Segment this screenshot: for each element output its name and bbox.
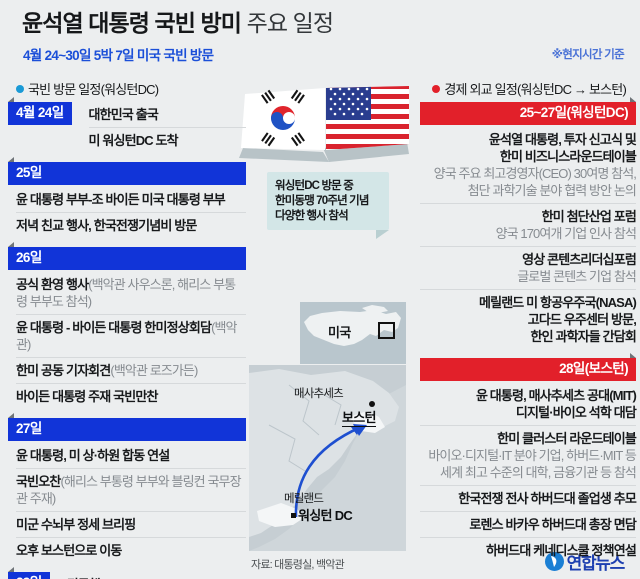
economic-item-subtext: 양국 주요 최고경영자(CEO) 30여명 참석, 첨단 과학기술 분야 협력 … [420,165,636,199]
schedule-item-text: 공식 환영 행사 [16,277,88,292]
schedule-inline-row: 29일귀국행 [8,572,246,579]
economic-item: 윤 대통령, 매사추세츠 공대(MIT) 디지털·바이오 석학 대담 [420,383,636,426]
economic-diplomacy-column: 25~27일(워싱턴DC)윤석열 대통령, 투자 신고식 및 한미 비즈니스라운… [420,102,636,572]
economic-item-text: 로렌스 바카우 하버드대 총장 면담 [420,516,636,533]
economic-item-text: 한미 클러스터 라운드테이블 [420,430,636,447]
map-label-maryland: 메릴랜드 [284,490,323,506]
schedule-item: 저녁 친교 행사, 한국전쟁기념비 방문 [16,213,246,238]
economic-item-text: 하버드대 케네디스쿨 정책연설 [420,542,636,559]
badge-fold-icon [8,157,14,162]
minimap-focus-box-icon [378,322,395,339]
page-title-strong: 윤석열 대통령 국빈 방미 [22,10,241,36]
economic-item-text: 윤석열 대통령, 투자 신고식 및 한미 비즈니스라운드테이블 [420,131,636,165]
schedule-body: 귀국행 [50,572,246,579]
economic-item-subtext: 양국 170여개 기업 인사 참석 [420,225,636,242]
date-badge[interactable]: 25~27일(워싱턴DC) [420,102,636,125]
legend-dot-blue-icon [16,85,24,93]
date-badge[interactable]: 25일 [8,162,246,185]
economic-item: 윤석열 대통령, 투자 신고식 및 한미 비즈니스라운드테이블양국 주요 최고경… [420,127,636,204]
schedule-item: 미 워싱턴DC 도착 [89,128,246,153]
schedule-item-text: 윤 대통령 부부-조 바이든 미국 대통령 부부 [16,192,225,207]
date-badge[interactable]: 28일(보스턴) [420,358,636,381]
badge-fold-icon [8,97,14,102]
badge-fold-icon [8,242,14,247]
callout-text: 워싱턴DC 방문 중 한미동맹 70주년 기념 다양한 행사 참석 [267,172,389,224]
schedule-item-text: 저녁 친교 행사, 한국전쟁기념비 방문 [16,218,196,233]
schedule-item-text: 미군 수뇌부 정세 브리핑 [16,517,135,532]
schedule-item-text: 윤 대통령, 미 상·하원 합동 연설 [16,448,169,463]
economic-item-subtext: 글로벌 콘텐츠 기업 참석 [420,268,636,285]
schedule-item: 국빈오찬(해리스 부통령 부부와 블링컨 국무장관 주재) [16,469,246,512]
schedule-item-text: 대한민국 출국 [89,107,158,122]
date-badge-wrap: 25~27일(워싱턴DC) [420,102,636,125]
northeast-usa-map: 매사추세츠 보스턴 메릴랜드 워싱턴 DC [249,365,406,551]
schedule-item-list: 귀국행 [59,572,246,579]
schedule-block: 29일귀국행 [8,572,246,579]
schedule-item-text: 국빈오찬 [16,474,60,489]
page-title: 윤석열 대통령 국빈 방미 주요 일정 [22,8,333,38]
date-badge-wrap: 25일 [8,162,246,185]
map-square-washington-icon [291,513,296,518]
economic-item-text: 한국전쟁 전사 하버드대 졸업생 추모 [420,490,636,507]
schedule-item-text: 미 워싱턴DC 도착 [89,133,178,148]
economic-item: 로렌스 바카우 하버드대 총장 면담 [420,512,636,538]
schedule-item: 귀국행 [67,572,246,579]
schedule-item: 윤 대통령 - 바이든 대통령 한미정상회담(백악관) [16,315,246,358]
date-badge-wrap: 4월 24일 [8,102,72,125]
economic-item-subtext: 바이오·디지털·IT 분야 기업, 하버드·MIT 등 세계 최고 수준의 대학… [420,447,636,481]
schedule-item: 미군 수뇌부 정세 브리핑 [16,512,246,538]
schedule-item-list: 공식 환영 행사(백악관 사우스론, 해리스 부통령 부부도 참석)윤 대통령 … [8,270,246,409]
economic-item-list: 윤 대통령, 매사추세츠 공대(MIT) 디지털·바이오 석학 대담한미 클러스… [420,381,636,563]
economic-block: 25~27일(워싱턴DC)윤석열 대통령, 투자 신고식 및 한미 비즈니스라운… [420,102,636,349]
flags-illustration [237,86,410,166]
schedule-item-list: 윤 대통령, 미 상·하원 합동 연설국빈오찬(해리스 부통령 부부와 블링컨 … [8,441,246,563]
legend-economic-diplomacy: 경제 외교 일정(워싱턴DC → 보스턴) [432,79,626,98]
date-badge[interactable]: 27일 [8,418,246,441]
economic-item-text: 윤 대통령, 매사추세츠 공대(MIT) 디지털·바이오 석학 대담 [420,387,636,421]
callout-tail-icon [376,230,389,239]
timezone-note: ※현지시간 기준 [552,46,624,62]
schedule-item-text: 한미 공동 기자회견 [16,363,110,378]
korea-usa-flags-icon [237,86,410,166]
economic-item-text: 한미 첨단산업 포럼 [420,208,636,225]
legend-state-visit: 국빈 방문 일정(워싱턴DC) [16,79,158,98]
map-city-boston: 보스턴 [342,407,376,427]
usa-overview-map: 미국 [300,302,406,364]
schedule-item: 윤 대통령 부부-조 바이든 미국 대통령 부부 [16,187,246,213]
schedule-block: 27일윤 대통령, 미 상·하원 합동 연설국빈오찬(해리스 부통령 부부와 블… [8,418,246,563]
legend-left-label: 국빈 방문 일정(워싱턴DC) [28,82,158,97]
schedule-item-text: 바이든 대통령 주재 국빈만찬 [16,389,158,404]
date-badge[interactable]: 26일 [8,247,246,270]
state-visit-schedule-column: 4월 24일대한민국 출국미 워싱턴DC 도착25일윤 대통령 부부-조 바이든… [8,102,246,579]
badge-fold-icon [8,413,14,418]
economic-item: 한미 클러스터 라운드테이블바이오·디지털·IT 분야 기업, 하버드·MIT … [420,426,636,486]
schedule-block: 25일윤 대통령 부부-조 바이든 미국 대통령 부부저녁 친교 행사, 한국전… [8,162,246,238]
schedule-block: 26일공식 환영 행사(백악관 사우스론, 해리스 부통령 부부도 참석)윤 대… [8,247,246,409]
legend-dot-red-icon [432,85,440,93]
schedule-item-text: 윤 대통령 - 바이든 대통령 한미정상회담 [16,320,211,335]
schedule-item-list: 대한민국 출국미 워싱턴DC 도착 [81,102,246,153]
map-city-washington-dc: 워싱턴 DC [298,505,352,524]
callout-box: 워싱턴DC 방문 중 한미동맹 70주년 기념 다양한 행사 참석 [267,172,389,230]
economic-item-list: 윤석열 대통령, 투자 신고식 및 한미 비즈니스라운드테이블양국 주요 최고경… [420,125,636,349]
page-title-light: 주요 일정 [241,10,333,36]
schedule-item: 대한민국 출국 [89,102,246,128]
date-badge-wrap: 27일 [8,418,246,441]
date-badge[interactable]: 29일 [8,572,50,579]
badge-fold-icon [630,97,636,102]
schedule-body: 대한민국 출국미 워싱턴DC 도착 [72,102,246,153]
schedule-item-text: 오후 보스턴으로 이동 [16,543,122,558]
economic-item: 한국전쟁 전사 하버드대 졸업생 추모 [420,486,636,512]
date-badge-wrap: 26일 [8,247,246,270]
legend-right-label: 경제 외교 일정(워싱턴DC → 보스턴) [444,82,626,97]
schedule-item: 한미 공동 기자회견(백악관 로즈가든) [16,358,246,384]
economic-block: 28일(보스턴)윤 대통령, 매사추세츠 공대(MIT) 디지털·바이오 석학 … [420,358,636,563]
economic-item: 영상 콘텐츠리더십포럼글로벌 콘텐츠 기업 참석 [420,247,636,290]
page-subtitle: 4월 24~30일 5박 7일 미국 국빈 방문 [23,44,213,64]
schedule-item-list: 윤 대통령 부부-조 바이든 미국 대통령 부부저녁 친교 행사, 한국전쟁기념… [8,185,246,238]
schedule-item-subtext: (백악관 로즈가든) [110,363,197,378]
schedule-item: 공식 환영 행사(백악관 사우스론, 해리스 부통령 부부도 참석) [16,272,246,315]
schedule-inline-row: 4월 24일대한민국 출국미 워싱턴DC 도착 [8,102,246,153]
economic-item: 하버드대 케네디스쿨 정책연설 [420,538,636,563]
map-label-massachusetts: 매사추세츠 [294,385,343,401]
source-note: 자료: 대통령실, 백악관 [251,556,344,572]
schedule-item: 바이든 대통령 주재 국빈만찬 [16,384,246,409]
schedule-item: 오후 보스턴으로 이동 [16,538,246,563]
economic-item: 메릴랜드 미 항공우주국(NASA) 고다드 우주센터 방문, 한인 과학자들 … [420,290,636,349]
economic-item: 한미 첨단산업 포럼양국 170여개 기업 인사 참석 [420,204,636,247]
date-badge-wrap: 29일 [8,572,50,579]
infographic-root: 윤석열 대통령 국빈 방미 주요 일정 4월 24~30일 5박 7일 미국 국… [0,0,640,579]
date-badge[interactable]: 4월 24일 [8,102,72,125]
badge-fold-icon [8,567,14,572]
economic-item-text: 영상 콘텐츠리더십포럼 [420,251,636,268]
minimap-country-label: 미국 [328,322,351,341]
schedule-item: 윤 대통령, 미 상·하원 합동 연설 [16,443,246,469]
economic-item-text: 메릴랜드 미 항공우주국(NASA) 고다드 우주센터 방문, 한인 과학자들 … [420,294,636,345]
schedule-block: 4월 24일대한민국 출국미 워싱턴DC 도착 [8,102,246,153]
date-badge-wrap: 28일(보스턴) [420,358,636,381]
badge-fold-icon [630,353,636,358]
